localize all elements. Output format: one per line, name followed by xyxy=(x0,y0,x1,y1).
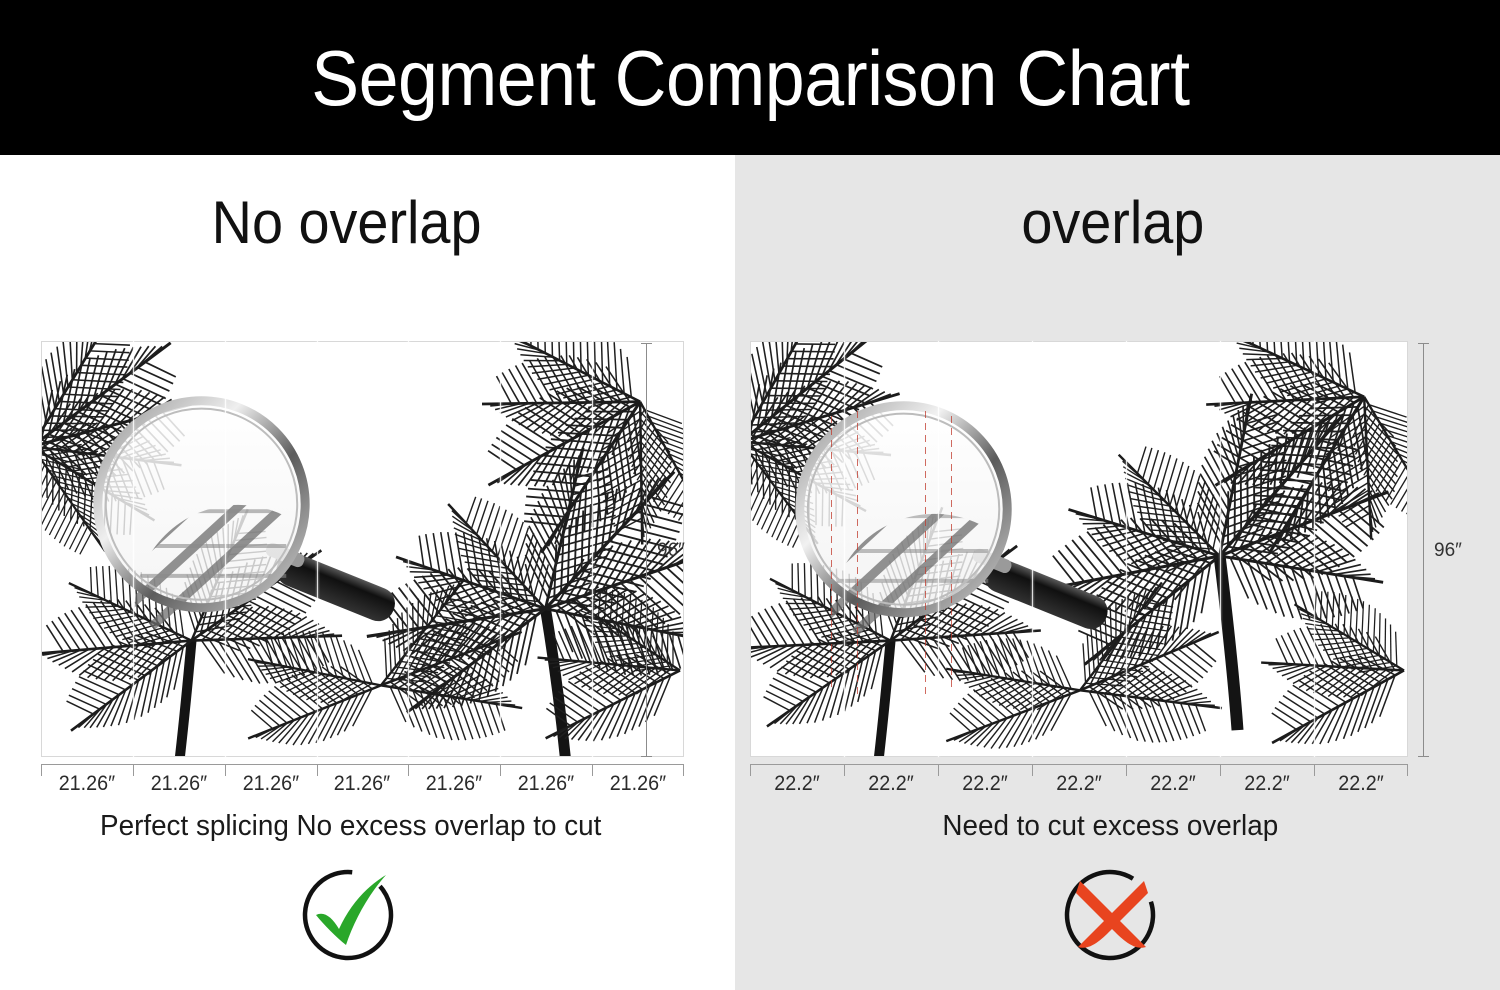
segment-width-label: 21.26″ xyxy=(136,772,222,796)
height-dimension-line-left xyxy=(646,343,647,757)
segment-width-label: 21.26″ xyxy=(44,772,130,796)
verdict-no-overlap xyxy=(0,865,735,965)
segment-width-label: 21.26″ xyxy=(227,772,313,796)
panel-heading-no-overlap: No overlap xyxy=(26,193,710,253)
caption-no-overlap: Perfect splicing No excess overlap to cu… xyxy=(15,810,721,843)
segment-width-label: 21.26″ xyxy=(503,772,589,796)
height-dimension-line-right xyxy=(1423,343,1424,757)
segment-width-label: 22.2″ xyxy=(847,772,935,796)
segment-width-label: 22.2″ xyxy=(941,772,1029,796)
segment-width-label: 22.2″ xyxy=(1317,772,1405,796)
cross-icon xyxy=(1056,865,1164,965)
palm-tree-artwork xyxy=(751,342,1407,756)
segment-width-label: 22.2″ xyxy=(753,772,841,796)
panel-heading-overlap: overlap xyxy=(762,193,1473,253)
segment-width-label: 21.26″ xyxy=(319,772,405,796)
mural-image-overlap xyxy=(750,341,1408,757)
palm-tree-artwork xyxy=(42,342,683,756)
segment-width-label: 22.2″ xyxy=(1129,772,1217,796)
segment-width-label: 22.2″ xyxy=(1223,772,1311,796)
panel-overlap: overlap xyxy=(735,155,1500,990)
mural-figure-overlap xyxy=(750,341,1408,757)
width-dimension-labels-left: 21.26″ 21.26″ 21.26″ 21.26″ 21.26″ 21.26… xyxy=(41,772,684,796)
title-bar: Segment Comparison Chart xyxy=(0,0,1500,155)
verdict-overlap xyxy=(735,865,1500,965)
mural-figure-no-overlap xyxy=(41,341,684,757)
panel-no-overlap: No overlap xyxy=(0,155,735,990)
segment-width-label: 21.26″ xyxy=(411,772,497,796)
height-dimension-label-right: 96″ xyxy=(1434,540,1462,562)
height-dimension-label-left: 96″ xyxy=(657,540,685,562)
panels-container: No overlap xyxy=(0,155,1500,990)
segment-width-label: 22.2″ xyxy=(1035,772,1123,796)
comparison-chart-page: Segment Comparison Chart No overlap xyxy=(0,0,1500,990)
segment-width-label: 21.26″ xyxy=(595,772,681,796)
width-dimension-labels-right: 22.2″ 22.2″ 22.2″ 22.2″ 22.2″ 22.2″ 22.2… xyxy=(750,772,1408,796)
check-icon xyxy=(294,865,402,965)
page-title: Segment Comparison Chart xyxy=(311,39,1189,117)
caption-overlap: Need to cut excess overlap xyxy=(750,810,1484,843)
mural-image-no-overlap xyxy=(41,341,684,757)
